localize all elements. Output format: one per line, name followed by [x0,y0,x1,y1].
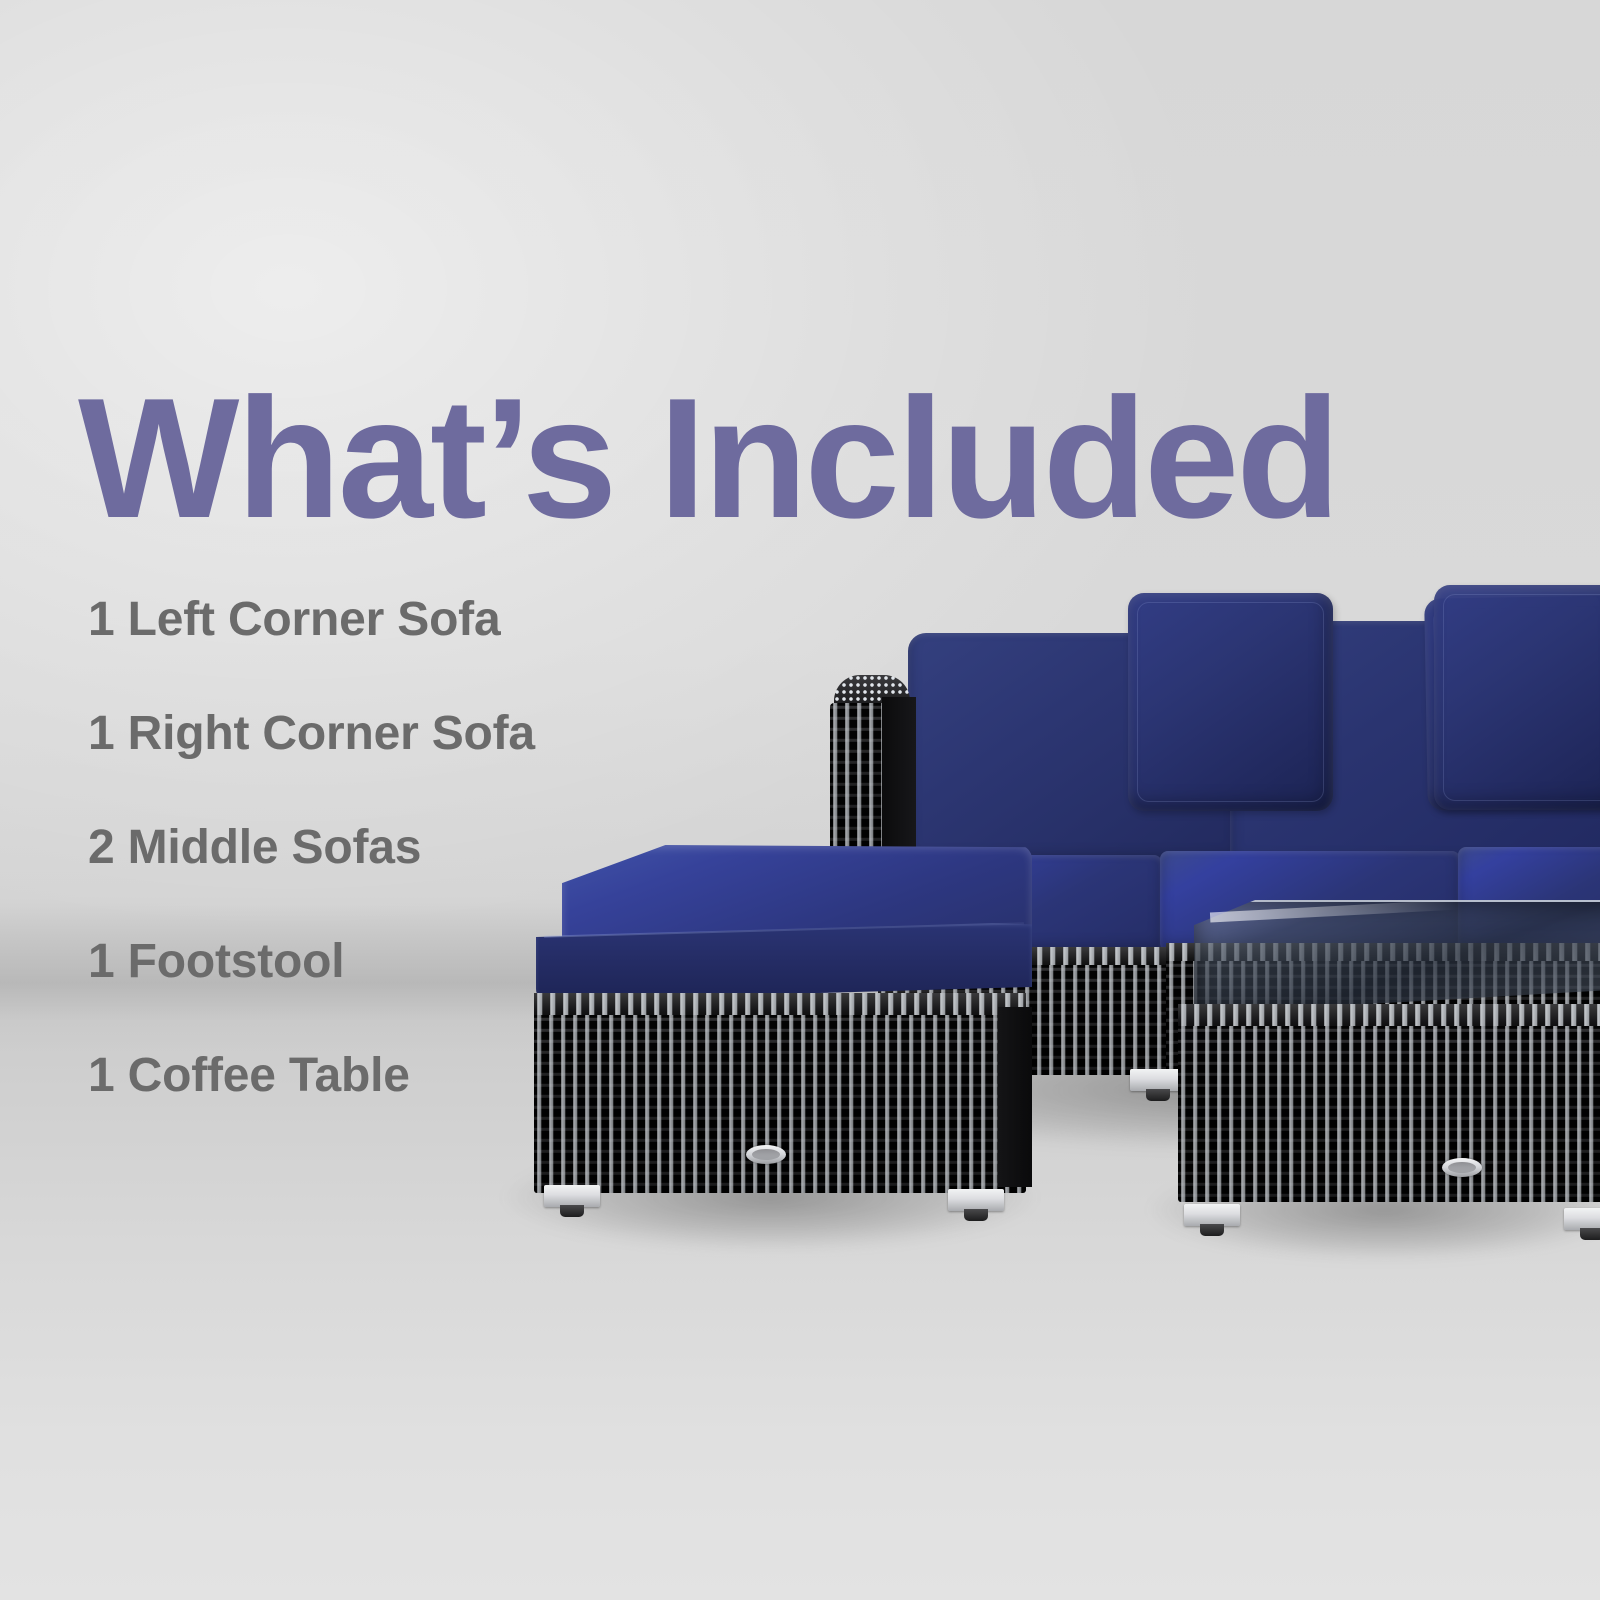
throw-pillow-3 [1434,585,1600,810]
footstool-foot-left [544,1185,600,1207]
list-item: 1 Right Corner Sofa [88,710,535,758]
brand-badge-footstool [746,1145,786,1164]
coffee-table [1170,900,1600,1230]
footstool-base-front [534,1015,1026,1193]
page-title: What’s Included [78,373,1338,544]
footstool [528,845,1038,1205]
brand-badge-coffee-table [1442,1158,1482,1177]
list-item: 1 Footstool [88,938,535,986]
footstool-foot-right [948,1189,1004,1211]
infographic-canvas: What’s Included 1 Left Corner Sofa 1 Rig… [0,0,1600,1600]
list-item: 2 Middle Sofas [88,824,535,872]
list-item: 1 Left Corner Sofa [88,596,535,644]
coffee-table-front-panel [1178,1026,1600,1202]
throw-pillow-1 [1128,593,1333,811]
list-item: 1 Coffee Table [88,1052,535,1100]
included-list: 1 Left Corner Sofa 1 Right Corner Sofa 2… [88,596,535,1100]
coffee-table-foot-left [1184,1204,1240,1226]
coffee-table-foot-right [1564,1208,1600,1230]
footstool-base-right-side [998,1007,1032,1187]
